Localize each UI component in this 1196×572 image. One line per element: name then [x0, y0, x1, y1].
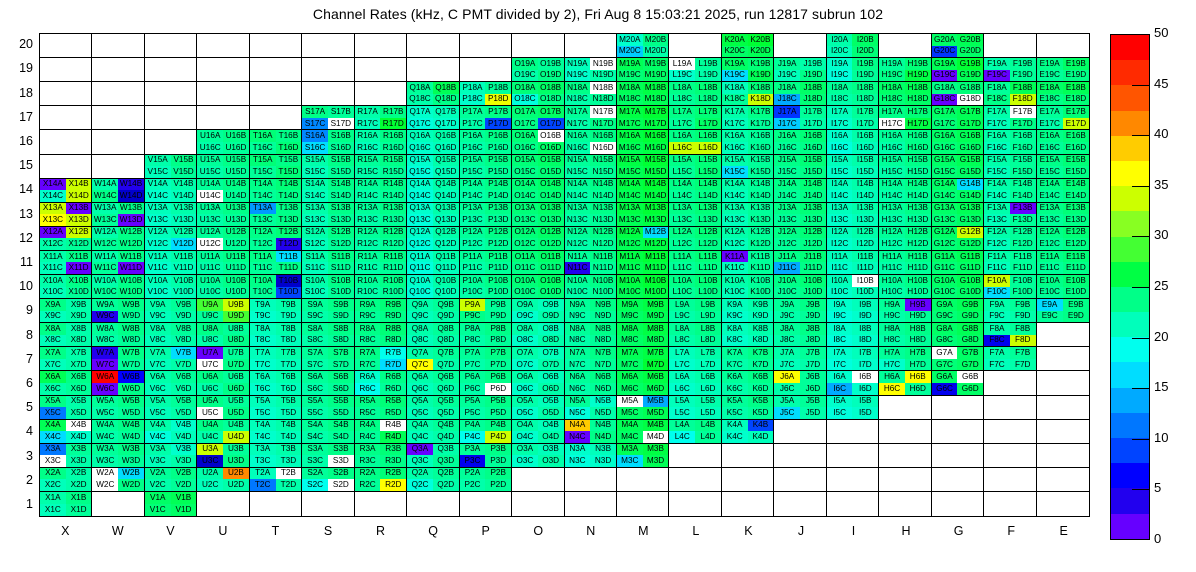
colorbar-tick-50: 50: [1154, 25, 1168, 40]
x-tick-X: X: [39, 524, 92, 538]
colorbar-tick-45: 45: [1154, 76, 1168, 91]
y-tick-18: 18: [6, 86, 33, 100]
y-tick-3: 3: [6, 449, 33, 463]
x-tick-W: W: [92, 524, 145, 538]
y-tick-19: 19: [6, 61, 33, 75]
y-tick-6: 6: [6, 376, 33, 390]
colorbar-tick-0: 0: [1154, 531, 1161, 546]
colorbar-mark-30: [1132, 236, 1150, 237]
y-tick-8: 8: [6, 328, 33, 342]
x-tick-Q: Q: [407, 524, 460, 538]
x-tick-K: K: [722, 524, 775, 538]
colorbar-mark-5: [1132, 489, 1150, 490]
x-tick-O: O: [512, 524, 565, 538]
colorbar-mark-35: [1132, 186, 1150, 187]
x-tick-N: N: [565, 524, 618, 538]
y-tick-13: 13: [6, 207, 33, 221]
y-tick-4: 4: [6, 424, 33, 438]
x-tick-J: J: [775, 524, 828, 538]
x-tick-M: M: [617, 524, 670, 538]
y-tick-12: 12: [6, 231, 33, 245]
y-tick-1: 1: [6, 497, 33, 511]
channel-rates-plot: Channel Rates (kHz, C PMT divided by 2),…: [0, 0, 1196, 572]
x-tick-T: T: [249, 524, 302, 538]
colorbar-mark-20: [1132, 338, 1150, 339]
y-tick-5: 5: [6, 400, 33, 414]
y-tick-9: 9: [6, 303, 33, 317]
axes-tick-layer: 2019181716151413121110987654321XWVUTSRQP…: [0, 0, 1196, 572]
colorbar-tick-40: 40: [1154, 126, 1168, 141]
x-tick-R: R: [354, 524, 407, 538]
y-tick-14: 14: [6, 182, 33, 196]
y-tick-2: 2: [6, 473, 33, 487]
x-tick-P: P: [459, 524, 512, 538]
colorbar-mark-10: [1132, 439, 1150, 440]
colorbar-mark-15: [1132, 388, 1150, 389]
y-tick-10: 10: [6, 279, 33, 293]
y-tick-16: 16: [6, 134, 33, 148]
x-tick-L: L: [670, 524, 723, 538]
y-tick-20: 20: [6, 37, 33, 51]
x-tick-H: H: [880, 524, 933, 538]
x-tick-I: I: [827, 524, 880, 538]
colorbar-mark-45: [1132, 85, 1150, 86]
x-tick-G: G: [932, 524, 985, 538]
y-tick-11: 11: [6, 255, 33, 269]
colorbar-mark-25: [1132, 287, 1150, 288]
x-tick-E: E: [1037, 524, 1090, 538]
x-tick-S: S: [302, 524, 355, 538]
colorbar-tick-20: 20: [1154, 329, 1168, 344]
y-tick-7: 7: [6, 352, 33, 366]
colorbar-mark-40: [1132, 135, 1150, 136]
colorbar-tick-10: 10: [1154, 430, 1168, 445]
colorbar-tick-30: 30: [1154, 227, 1168, 242]
colorbar-tick-25: 25: [1154, 278, 1168, 293]
y-tick-15: 15: [6, 158, 33, 172]
colorbar-tick-5: 5: [1154, 480, 1161, 495]
x-tick-F: F: [985, 524, 1038, 538]
colorbar-tick-35: 35: [1154, 177, 1168, 192]
y-tick-17: 17: [6, 110, 33, 124]
x-tick-V: V: [144, 524, 197, 538]
x-tick-U: U: [197, 524, 250, 538]
colorbar-ticks: 05101520253035404550: [1110, 34, 1196, 540]
colorbar-tick-15: 15: [1154, 379, 1168, 394]
